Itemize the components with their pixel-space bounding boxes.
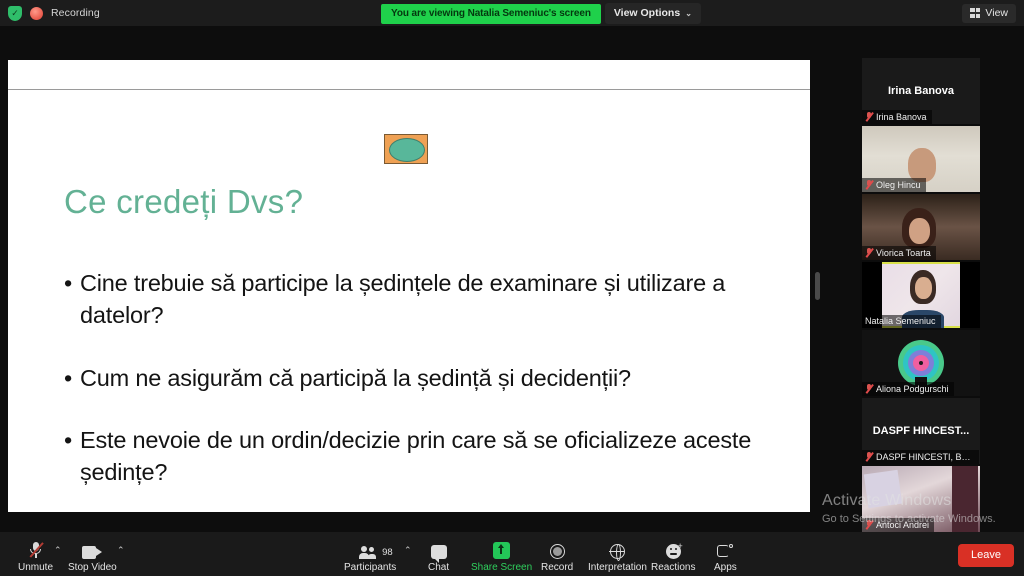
stop-video-label: Stop Video <box>68 562 117 573</box>
screen-share-notice-group: You are viewing Natalia Semeniuc's scree… <box>381 3 701 24</box>
mic-muted-icon <box>865 111 873 122</box>
chevron-down-icon: ⌄ <box>685 9 692 18</box>
camera-icon <box>82 540 102 559</box>
view-options-label: View Options <box>614 7 680 19</box>
mic-muted-icon <box>865 179 873 190</box>
unmute-button[interactable]: Unmute <box>18 540 53 573</box>
share-screen-icon <box>493 540 510 559</box>
participant-name: Antoci Andrei <box>876 520 929 530</box>
grid-view-icon <box>970 8 980 18</box>
participant-namebar: Oleg Hincu <box>862 178 926 192</box>
video-thumbnail-face <box>915 277 932 299</box>
reactions-button[interactable]: + Reactions <box>651 540 695 573</box>
participant-name: DASPF HINCESTI, Bara... <box>876 452 974 462</box>
meeting-toolbar: Unmute ⌃ Stop Video ⌃ 98 Participants ⌃ … <box>0 532 1024 576</box>
participants-label: Participants <box>344 562 396 573</box>
globe-icon <box>610 540 625 559</box>
participant-namebar: Antoci Andrei <box>862 518 934 532</box>
recording-dot-icon[interactable] <box>30 7 43 20</box>
slide-bullet-item: • Cine trebuie să participe la ședințele… <box>64 268 764 331</box>
participant-name: Aliona Podgurschi <box>876 384 949 394</box>
avatar-rings-logo-icon <box>898 340 944 386</box>
viewing-screen-notice: You are viewing Natalia Semeniuc's scree… <box>381 4 601 24</box>
reactions-label: Reactions <box>651 562 695 573</box>
slide-bullet-list: • Cine trebuie să participe la ședințele… <box>64 210 764 512</box>
participant-name: Oleg Hincu <box>876 180 921 190</box>
slide-bullet-item: • Este nevoie de un ordin/decizie prin c… <box>64 425 764 488</box>
share-screen-button[interactable]: Share Screen <box>471 540 532 573</box>
mic-muted-icon <box>865 451 873 462</box>
leave-button[interactable]: Leave <box>958 544 1014 567</box>
participant-tile-daspf-hincesti[interactable]: DASPF HINCEST... DASPF HINCESTI, Bara... <box>862 398 980 464</box>
slide-bullet-item: • Cum ne asigurăm că participă la ședinț… <box>64 363 764 395</box>
participants-button[interactable]: 98 Participants <box>344 540 396 573</box>
participant-namebar: Irina Banova <box>862 110 932 124</box>
recording-status-group: ✓ Recording <box>8 6 100 21</box>
unmute-label: Unmute <box>18 562 53 573</box>
record-circle-icon <box>550 540 565 559</box>
interpretation-button[interactable]: Interpretation <box>588 540 647 573</box>
record-label: Record <box>541 562 573 573</box>
video-thumbnail <box>908 148 936 182</box>
audio-options-caret-icon[interactable]: ⌃ <box>54 545 62 556</box>
participant-tile-irina-banova[interactable]: Irina Banova Irina Banova <box>862 58 980 124</box>
bullet-marker: • <box>64 268 80 331</box>
participant-tile-oleg-hincu[interactable]: Oleg Hincu <box>862 126 980 192</box>
people-icon: 98 <box>359 540 381 559</box>
video-thumbnail-face <box>909 218 930 244</box>
participant-tile-antoci-andrei[interactable]: Antoci Andrei <box>862 466 980 532</box>
smiley-plus-icon: + <box>666 540 681 559</box>
view-button-label: View <box>985 7 1008 19</box>
participant-name: Viorica Toarta <box>876 248 931 258</box>
video-thumbnail-shadow <box>952 466 978 532</box>
participant-name: Natalia Semeniuc <box>865 316 936 326</box>
shield-check-icon[interactable]: ✓ <box>8 6 22 21</box>
video-thumbnail <box>864 470 902 508</box>
slide-decoration-ellipse <box>389 138 425 162</box>
participant-namebar: Aliona Podgurschi <box>862 382 954 396</box>
zoom-meeting-window: ✓ Recording You are viewing Natalia Seme… <box>0 0 1024 576</box>
stop-video-button[interactable]: Stop Video <box>68 540 117 573</box>
participants-caret-icon[interactable]: ⌃ <box>404 545 412 556</box>
mic-muted-icon <box>865 519 873 530</box>
bullet-text: Cine trebuie să participe la ședințele d… <box>80 268 764 331</box>
chat-label: Chat <box>428 562 449 573</box>
apps-button[interactable]: Apps <box>714 540 737 573</box>
participant-name: Irina Banova <box>876 112 927 122</box>
slide-decoration-shape <box>384 134 428 164</box>
share-screen-label: Share Screen <box>471 562 532 573</box>
shared-screen-scrollbar[interactable] <box>815 272 820 300</box>
participant-namebar: DASPF HINCESTI, Bara... <box>862 450 979 464</box>
apps-icon <box>717 540 733 559</box>
bullet-text: Este nevoie de un ordin/decizie prin car… <box>80 425 764 488</box>
recording-label: Recording <box>51 7 100 19</box>
interpretation-label: Interpretation <box>588 562 647 573</box>
apps-label: Apps <box>714 562 737 573</box>
bullet-text: Cum ne asigurăm că participă la ședință … <box>80 363 764 395</box>
bullet-marker: • <box>64 363 80 395</box>
participant-namebar: Natalia Semeniuc <box>862 315 941 328</box>
slide-divider-line <box>8 89 810 90</box>
participant-tile-viorica-toarta[interactable]: Viorica Toarta <box>862 194 980 260</box>
record-button[interactable]: Record <box>541 540 573 573</box>
view-layout-button[interactable]: View <box>962 4 1016 23</box>
view-options-button[interactable]: View Options ⌄ <box>605 3 701 24</box>
participant-namebar: Viorica Toarta <box>862 246 936 260</box>
meeting-top-bar: ✓ Recording You are viewing Natalia Seme… <box>0 0 1024 26</box>
participant-tile-aliona-podgurschi[interactable]: Aliona Podgurschi <box>862 330 980 396</box>
mic-muted-icon <box>865 247 873 258</box>
video-letterbox-right <box>960 262 980 328</box>
chat-button[interactable]: Chat <box>428 540 449 573</box>
microphone-muted-icon <box>29 540 42 559</box>
chat-bubble-icon <box>431 540 447 559</box>
video-options-caret-icon[interactable]: ⌃ <box>117 545 125 556</box>
participant-filmstrip[interactable]: Irina Banova Irina Banova Oleg Hincu Vio… <box>862 58 980 536</box>
participant-tile-natalia-semeniuc[interactable]: Natalia Semeniuc <box>862 262 980 328</box>
participants-count: 98 <box>382 547 393 558</box>
mic-muted-icon <box>865 383 873 394</box>
shared-screen-slide: Ce credeți Dvs? • Cine trebuie să partic… <box>8 60 810 512</box>
bullet-marker: • <box>64 425 80 488</box>
